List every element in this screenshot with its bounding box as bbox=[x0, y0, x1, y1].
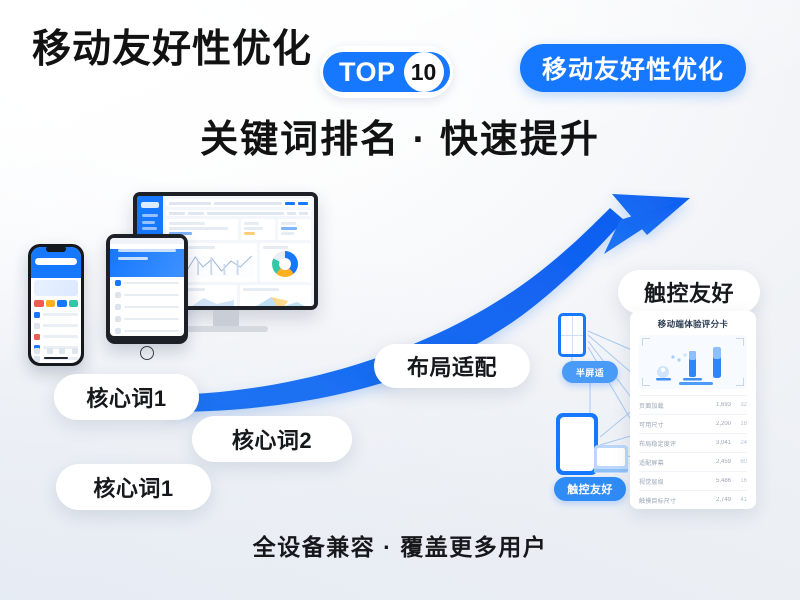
row-delta: 18 bbox=[731, 421, 747, 427]
top-rank-label: TOP bbox=[339, 52, 396, 92]
mobile-experience-diagram: 半屏适 触控友好 移动端体验评分卡 bbox=[548, 305, 778, 520]
row-name: 视觉层级 bbox=[639, 477, 705, 486]
list-item bbox=[110, 301, 184, 313]
area-chart-icon bbox=[243, 293, 308, 306]
split-screen-chip: 半屏适 bbox=[562, 361, 618, 383]
poster-canvas: 移动友好性优化 TOP 10 移动友好性优化 关键词排名 · 快速提升 bbox=[0, 0, 800, 600]
tablet-screen bbox=[110, 238, 184, 336]
sidebar-nav-item bbox=[142, 227, 157, 230]
search-input[interactable] bbox=[35, 258, 77, 265]
row-value: 1,693 bbox=[705, 402, 731, 408]
list-item bbox=[31, 320, 81, 331]
dashboard-logo bbox=[141, 202, 159, 208]
scorecard-chart bbox=[639, 335, 747, 389]
top-rank-badge: TOP 10 bbox=[320, 46, 453, 98]
phone-bezel bbox=[28, 244, 84, 366]
table-row: 可用尺寸 2,200 18 bbox=[639, 414, 747, 433]
row-value: 2,200 bbox=[705, 421, 731, 427]
large-phone-icon bbox=[556, 413, 598, 475]
scorecard-table: 页面加载 1,693 32 可用尺寸 2,200 18 布局稳定度评 3,041… bbox=[639, 395, 747, 509]
row-value: 2,459 bbox=[705, 459, 731, 465]
row-delta: 32 bbox=[731, 402, 747, 408]
donut-chart-icon bbox=[272, 251, 298, 277]
tablet-icon bbox=[106, 234, 188, 360]
list-item bbox=[31, 309, 81, 320]
row-delta: 16 bbox=[731, 478, 747, 484]
sidebar-nav-item bbox=[142, 221, 155, 224]
table-row: 视觉层级 5,486 16 bbox=[639, 471, 747, 490]
bar-chart-icon bbox=[639, 335, 747, 389]
tab-item[interactable] bbox=[59, 348, 65, 354]
scorecard-title: 移动端体验评分卡 bbox=[639, 318, 747, 330]
row-name: 页面加载 bbox=[639, 401, 705, 410]
scorecard-panel: 移动端体验评分卡 bbox=[630, 311, 756, 509]
tablet-statusbar bbox=[110, 238, 184, 244]
donut-chart-card bbox=[260, 243, 312, 282]
top-rank-badge-inner: TOP 10 bbox=[323, 52, 450, 92]
tab-item[interactable] bbox=[47, 348, 53, 354]
promo-banner bbox=[34, 280, 78, 296]
tablet-home-button bbox=[140, 346, 154, 360]
quick-icons-row bbox=[31, 298, 81, 309]
list-item bbox=[110, 277, 184, 289]
keyword-pill-1[interactable]: 核心词1 bbox=[54, 374, 199, 420]
table-row: 页面加载 1,693 32 bbox=[639, 395, 747, 414]
tab-item[interactable] bbox=[72, 348, 78, 354]
row-name: 适配屏幕 bbox=[639, 458, 705, 467]
smartphone-icon bbox=[28, 244, 84, 366]
top-rank-number: 10 bbox=[404, 52, 444, 92]
list-item bbox=[31, 331, 81, 342]
sidebar-nav-item bbox=[142, 214, 158, 217]
table-row: 触摸目标尺寸 2,749 41 bbox=[639, 490, 747, 509]
row-name: 布局稳定度评 bbox=[639, 439, 705, 448]
split-screen-phone-icon bbox=[558, 313, 586, 357]
dashboard-toolbar bbox=[166, 210, 311, 216]
row-name: 可用尺寸 bbox=[639, 420, 705, 429]
phone-notch bbox=[46, 246, 66, 252]
monitor-neck bbox=[213, 310, 239, 326]
header-row: 移动友好性优化 TOP 10 移动友好性优化 bbox=[32, 26, 768, 86]
kpi-card bbox=[278, 219, 312, 240]
touch-friendly-chip: 触控友好 bbox=[554, 477, 626, 501]
area-chart-card bbox=[240, 285, 311, 306]
header-tag-chip: 移动友好性优化 bbox=[520, 44, 746, 92]
list-item bbox=[110, 313, 184, 325]
row-delta: 41 bbox=[731, 497, 747, 503]
row-delta: 60 bbox=[731, 459, 747, 465]
device-mockups bbox=[28, 192, 338, 382]
phone-tabbar bbox=[31, 348, 81, 354]
list-item bbox=[110, 289, 184, 301]
kpi-card bbox=[241, 219, 275, 240]
row-delta: 24 bbox=[731, 440, 747, 446]
laptop-icon bbox=[594, 445, 628, 473]
footer-tagline: 全设备兼容 · 覆盖更多用户 bbox=[0, 528, 800, 562]
table-row: 布局稳定度评 3,041 24 bbox=[639, 433, 747, 452]
monitor-base bbox=[184, 326, 268, 332]
phone-home-indicator bbox=[44, 357, 68, 359]
keyword-pill-2[interactable]: 核心词2 bbox=[192, 416, 352, 462]
dashboard-topbar bbox=[166, 199, 311, 207]
tablet-hero-banner bbox=[110, 249, 184, 277]
row-value: 2,749 bbox=[705, 497, 731, 503]
table-row: 适配屏幕 2,459 60 bbox=[639, 452, 747, 471]
row-name: 触摸目标尺寸 bbox=[639, 496, 705, 505]
layout-adaptation-pill[interactable]: 布局适配 bbox=[374, 344, 530, 388]
tablet-bezel bbox=[106, 234, 188, 344]
list-item bbox=[110, 325, 184, 336]
page-title: 移动友好性优化 bbox=[32, 26, 312, 74]
row-value: 3,041 bbox=[705, 440, 731, 446]
phone-screen bbox=[31, 247, 81, 363]
tab-item[interactable] bbox=[34, 348, 40, 354]
row-value: 5,486 bbox=[705, 478, 731, 484]
keyword-pill-3[interactable]: 核心词1 bbox=[56, 464, 211, 510]
